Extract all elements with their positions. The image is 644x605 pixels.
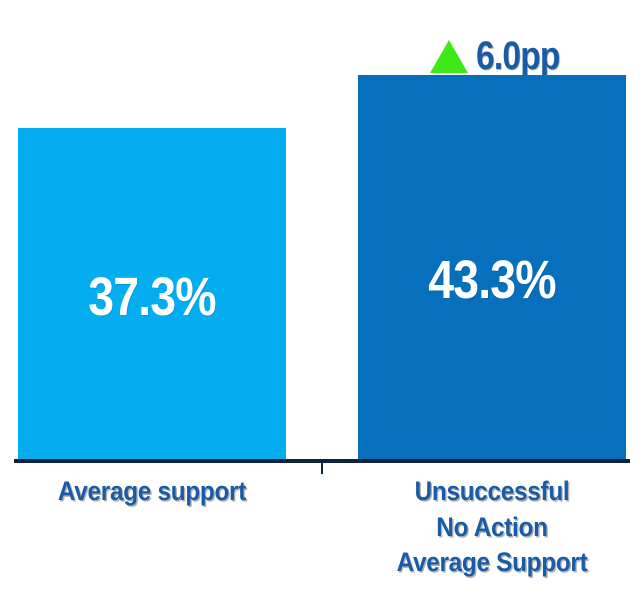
x-axis-tick-label-1: Unsuccessful No Action Average Support [358, 474, 626, 581]
bar-value-label: 37.3% [37, 270, 267, 324]
x-axis-tick-labels: Average support Unsuccessful No Action A… [0, 474, 644, 605]
x-axis-tick-label-line: Unsuccessful [371, 474, 612, 510]
bar-unsuccessful-no-action-average-support: 43.3% [358, 75, 626, 463]
x-axis-tick-label-line: No Action [371, 510, 612, 546]
plot-area: 37.3% 43.3% [0, 0, 644, 463]
x-axis-tick-label-0: Average support [18, 474, 286, 510]
bar-chart: 6.0pp 37.3% 43.3% Average support Unsucc… [0, 0, 644, 605]
x-axis-tick-label-line: Average support [31, 474, 272, 510]
x-axis-tick-label-line: Average Support [371, 545, 612, 581]
x-axis-tick [321, 463, 323, 474]
bar-value-label: 43.3% [377, 253, 607, 307]
bar-average-support: 37.3% [18, 128, 286, 463]
